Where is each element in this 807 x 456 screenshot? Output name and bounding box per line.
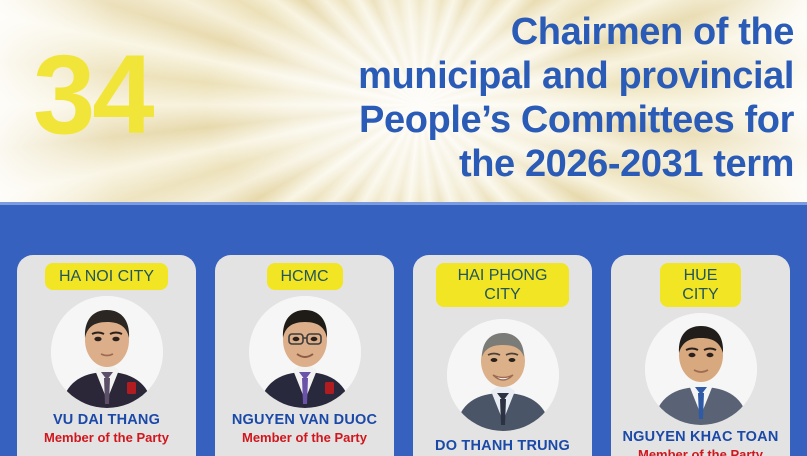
person-role: Member of the Party	[638, 447, 763, 456]
person-card-list: HA NOI CITY VU DAI	[0, 255, 807, 456]
person-card[interactable]: HA NOI CITY VU DAI	[17, 255, 196, 456]
portrait-icon	[645, 313, 757, 425]
person-name: VU DAI THANG	[53, 412, 160, 429]
locality-badge: HA NOI CITY	[45, 263, 168, 290]
person-card[interactable]: HAI PHONG CITY DO THANH TRUNG	[413, 255, 592, 456]
person-card[interactable]: HCMC	[215, 255, 394, 456]
title-line-4: the 2026-2031 term	[459, 142, 794, 186]
person-name: DO THANH TRUNG	[435, 438, 570, 455]
avatar	[645, 313, 757, 425]
person-role: Member of the Party	[242, 430, 367, 445]
infographic-poster: 34 Chairmen of the municipal and provinc…	[0, 0, 807, 456]
portrait-icon	[447, 319, 559, 431]
person-role: Member of the Party	[44, 430, 169, 445]
avatar	[51, 296, 163, 408]
page-title: Chairmen of the municipal and provincial…	[176, 0, 794, 196]
avatar	[447, 319, 559, 431]
locality-badge: HCMC	[267, 263, 343, 290]
portrait-icon	[51, 296, 163, 408]
title-line-2: municipal and provincial	[358, 54, 794, 98]
avatar	[249, 296, 361, 408]
count-number: 34	[33, 44, 178, 146]
person-name: NGUYEN KHAC TOAN	[623, 429, 779, 446]
title-line-3: People’s Committees for	[359, 98, 794, 142]
locality-badge: HAI PHONG CITY	[436, 263, 570, 307]
title-line-1: Chairmen of the	[511, 10, 794, 54]
person-card[interactable]: HUE CITY NGUYEN KHAC TOAN	[611, 255, 790, 456]
locality-badge: HUE CITY	[660, 263, 740, 307]
portrait-icon	[249, 296, 361, 408]
person-name: NGUYEN VAN DUOC	[232, 412, 377, 429]
header-banner: 34 Chairmen of the municipal and provinc…	[0, 0, 807, 202]
